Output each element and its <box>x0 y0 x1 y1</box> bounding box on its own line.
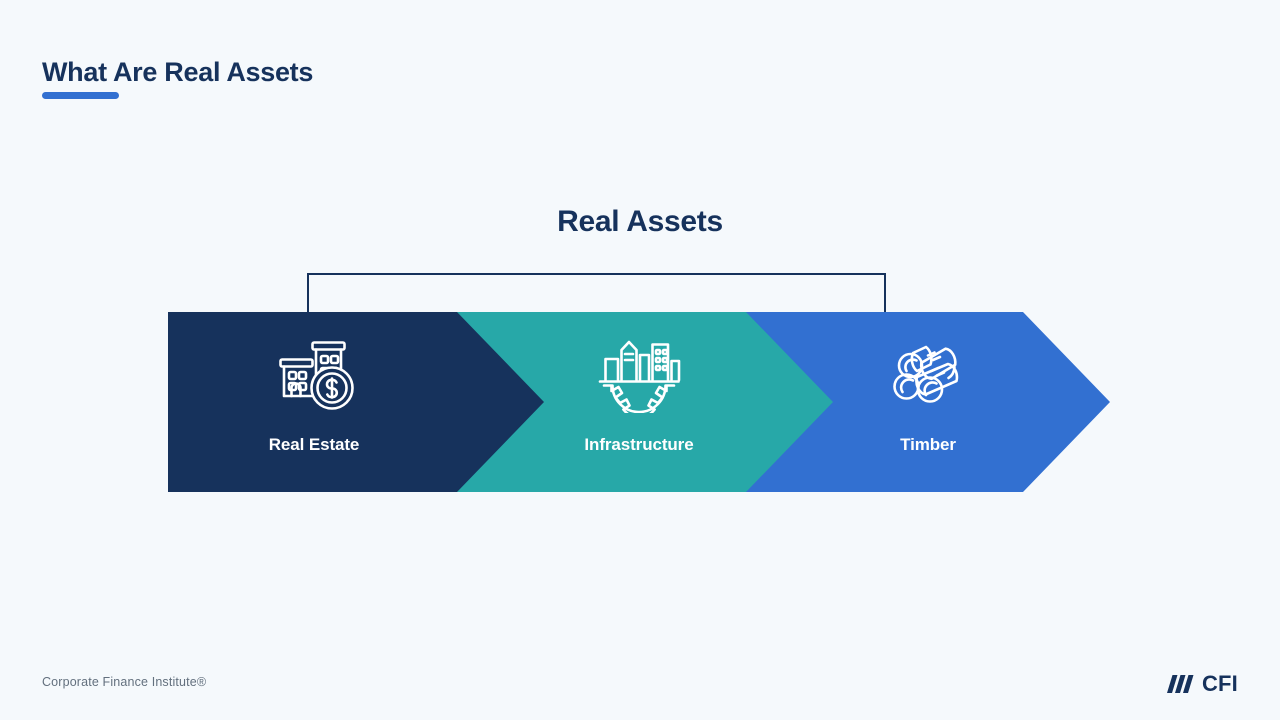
diagram-bracket-box-sides <box>307 273 886 314</box>
chevron-band: Real Estate <box>0 312 1280 492</box>
title-underline-accent <box>42 92 119 99</box>
footer-attribution: Corporate Finance Institute® <box>42 675 206 689</box>
cfi-logo: CFI <box>1166 670 1238 698</box>
cfi-logo-text: CFI <box>1202 673 1238 695</box>
diagram-heading: Real Assets <box>0 203 1280 241</box>
page-title: What Are Real Assets <box>42 55 313 89</box>
cfi-logo-bars-icon <box>1166 674 1196 694</box>
